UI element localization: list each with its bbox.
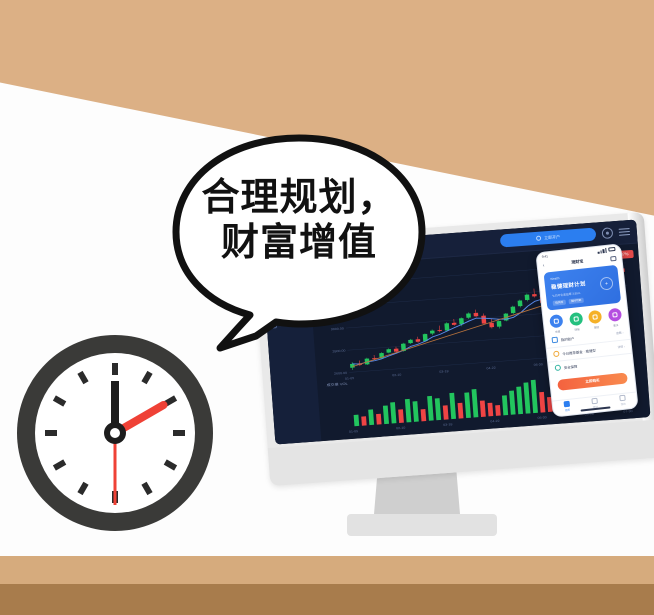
promo-card[interactable]: Wealth 稳健理财计划 七日年化收益率 3.85% 低风险 随时可取 + — [544, 265, 622, 311]
svg-text:01-05: 01-05 — [349, 429, 359, 433]
topbar-spacer — [424, 241, 494, 246]
tab-label: 我的 — [620, 401, 626, 406]
gear-icon[interactable] — [602, 227, 614, 239]
list-item-action: 查看 › — [616, 331, 624, 336]
user-icon — [619, 394, 626, 401]
phone-mockup: 9:41 ‹ 理财宝 Wealth — [535, 243, 638, 417]
battery-icon — [608, 247, 615, 251]
tab-label: 首页 — [564, 407, 570, 412]
quick-action-more[interactable]: 更多 — [608, 308, 623, 328]
bubble-line-2: 财富增值 — [168, 221, 430, 266]
more-icon — [608, 308, 622, 322]
svg-text:03-18: 03-18 — [439, 369, 449, 373]
promo-tag: 低风险 — [553, 299, 566, 306]
wall-clock — [12, 330, 218, 536]
quick-action-transfer[interactable]: 转账 — [569, 312, 584, 332]
quick-action-deposit[interactable]: 充值 — [549, 314, 564, 334]
user-plus-icon — [536, 236, 541, 241]
promo-tag: 随时可取 — [568, 297, 584, 304]
monitor-stand-base — [347, 514, 497, 536]
tab-profile[interactable]: 我的 — [619, 394, 626, 406]
list-item-label: 我的账户 — [561, 335, 575, 341]
bank-icon — [552, 337, 559, 344]
svg-text:03-18: 03-18 — [443, 422, 453, 426]
chat-icon[interactable] — [610, 255, 617, 261]
svg-text:01-05: 01-05 — [345, 376, 355, 380]
hamburger-menu-icon[interactable] — [619, 228, 631, 236]
speech-bubble: 合理规划， 财富增值 — [168, 132, 430, 357]
svg-text:2600.00: 2600.00 — [334, 371, 347, 376]
deposit-icon — [549, 314, 563, 328]
svg-text:07-30: 07-30 — [623, 409, 633, 413]
tab-home[interactable]: 首页 — [563, 400, 570, 412]
signal-icon — [598, 247, 607, 253]
list-item-label: 今日推荐基金 · 稳健型 — [562, 347, 596, 356]
finance-icon — [591, 397, 598, 404]
finance-icon — [588, 310, 602, 324]
alert-icon — [553, 351, 560, 358]
svg-text:02-10: 02-10 — [396, 426, 406, 430]
clock-hub-inner — [110, 428, 120, 438]
bubble-text: 合理规划， 财富增值 — [168, 176, 430, 266]
svg-text:05-30: 05-30 — [534, 362, 544, 366]
scene-root: 请输入股票代码或名称 立即开户 — [0, 0, 654, 615]
open-account-button[interactable]: 立即开户 — [500, 228, 597, 248]
bubble-line-1: 合理规划， — [168, 176, 430, 221]
svg-text:04-22: 04-22 — [490, 419, 500, 423]
svg-text:04-22: 04-22 — [486, 366, 496, 370]
list-item-label: 安全保障 — [564, 363, 578, 369]
open-account-label: 立即开户 — [544, 234, 560, 241]
status-time: 9:41 — [542, 254, 549, 259]
transfer-icon — [569, 312, 583, 326]
home-icon — [563, 400, 570, 407]
buy-now-button[interactable]: 立即购买 — [557, 372, 628, 390]
desk-front-edge — [0, 584, 654, 615]
clock-face-svg — [12, 330, 218, 536]
svg-text:02-10: 02-10 — [392, 373, 402, 377]
volume-title: 成交量 VOL — [326, 381, 348, 387]
list-item-action: 详情 › — [617, 344, 625, 349]
shield-icon — [555, 364, 562, 371]
svg-text:05-30: 05-30 — [537, 416, 547, 420]
quick-action-finance[interactable]: 理财 — [588, 310, 603, 330]
